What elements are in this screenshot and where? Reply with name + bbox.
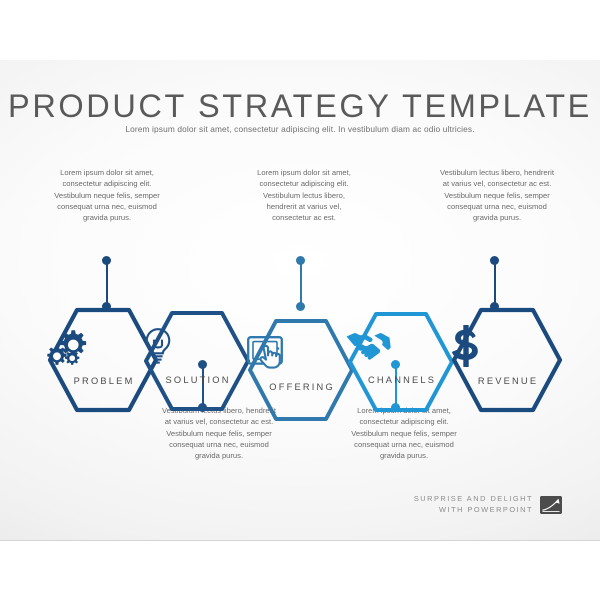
stage-label-offering: OFFERING — [245, 382, 357, 392]
page-subtitle: Lorem ipsum dolor sit amet, consectetur … — [0, 124, 600, 134]
hexagon-outline-channels — [345, 309, 457, 415]
stage-hexagon-channels[interactable]: CHANNELS — [345, 309, 457, 415]
footer-line-1: SURPRISE AND DELIGHT — [414, 494, 533, 505]
stage-label-channels: CHANNELS — [345, 375, 457, 385]
monitor-swoosh-logo — [540, 496, 562, 514]
footer-line-2: WITH POWERPOINT — [414, 505, 533, 516]
slide-thumbnail: PRODUCT STRATEGY TEMPLATE Lorem ipsum do… — [0, 0, 600, 600]
connector-problem — [102, 256, 111, 311]
footer-text: SURPRISE AND DELIGHT WITH POWERPOINT — [414, 494, 533, 515]
slide-canvas: PRODUCT STRATEGY TEMPLATE Lorem ipsum do… — [0, 60, 600, 541]
stage-hexagon-solution[interactable]: SOLUTION — [141, 309, 253, 415]
stage-hexagon-revenue[interactable]: REVENUE — [449, 305, 565, 415]
stage-label-solution: SOLUTION — [141, 375, 253, 385]
footer-branding: SURPRISE AND DELIGHT WITH POWERPOINT — [414, 494, 562, 515]
page-title: PRODUCT STRATEGY TEMPLATE — [0, 88, 600, 125]
stage-description-problem: Lorem ipsum dolor sit amet, consectetur … — [48, 167, 166, 223]
stage-label-revenue: REVENUE — [449, 376, 565, 386]
stage-hexagon-offering[interactable]: OFFERING — [245, 316, 357, 424]
connector-revenue — [490, 256, 499, 311]
stage-description-revenue: Vestibulum lectus libero, hendrerit at v… — [436, 167, 558, 223]
connector-offering — [296, 256, 305, 311]
stage-description-offering: Lorem ipsum dolor sit amet, consectetur … — [248, 167, 360, 223]
